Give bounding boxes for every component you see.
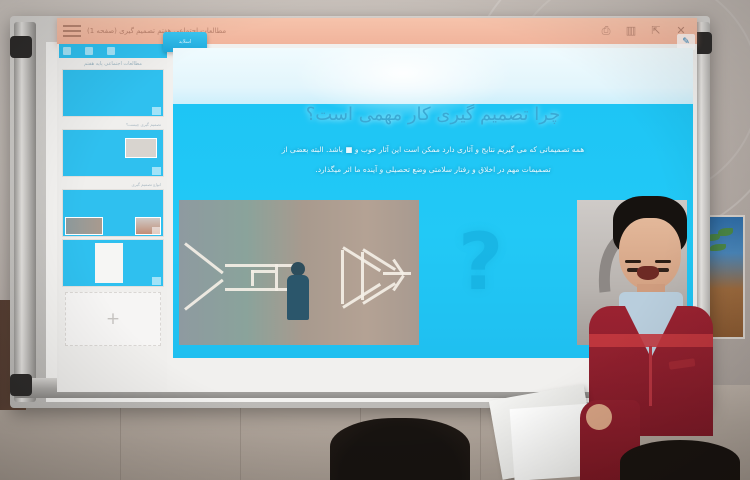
slide-thumbnail-1[interactable] [63, 70, 163, 116]
slide-bullet-1: همه تصمیماتی که می گیریم نتایج و آثاری د… [187, 144, 679, 155]
add-slide-button[interactable]: + [65, 292, 161, 346]
text-tool-icon[interactable] [107, 47, 115, 55]
hamburger-menu-icon[interactable] [63, 24, 81, 38]
slide-panel[interactable]: مطالعات اجتماعی پایه هفتم تصمیم گیری چیس… [59, 44, 168, 392]
slide-number-badge [152, 227, 161, 235]
slide-number-badge [152, 107, 161, 115]
person-silhouette [287, 262, 309, 320]
two-arrows-choice-photo [179, 200, 419, 345]
slide-number-badge [152, 277, 161, 285]
cardigan-placket [649, 346, 652, 406]
thumbnail-image [65, 217, 103, 235]
whiteboard-corner-cap [10, 374, 32, 396]
whiteboard-corner-cap [10, 36, 32, 58]
whiteboard-left-rail [14, 22, 36, 402]
sidebar-toolbar [59, 44, 167, 58]
slide-number-badge [152, 167, 161, 175]
student-hand [586, 404, 612, 430]
slide-thumbnail-3[interactable] [63, 190, 163, 236]
thumbnail-image [125, 138, 157, 158]
seated-student-right [620, 440, 740, 480]
shapes-tool-icon[interactable] [85, 47, 93, 55]
slide-thumbnail-title-2: تصمیم گیری چیست؟ [59, 120, 167, 130]
slide-body-text: همه تصمیماتی که می گیریم نتایج و آثاری د… [187, 144, 679, 184]
thumbnail-image [95, 243, 123, 283]
slide-thumbnail-2[interactable] [63, 130, 163, 176]
slide-thumbnail-4[interactable] [63, 240, 163, 286]
print-icon[interactable]: ⎙ [600, 25, 612, 37]
seated-student-front [330, 418, 470, 480]
question-mark-graphic: ? [458, 218, 503, 308]
slide-thumbnail-title-3: انواع تصمیم گیری [59, 180, 167, 190]
student-mouth [637, 266, 659, 280]
pointer-tool-icon[interactable] [63, 47, 71, 55]
book-icon[interactable]: ▥ [625, 25, 637, 37]
share-icon[interactable]: ⇱ [650, 25, 662, 37]
slide-tab-label: اسلاید [179, 39, 192, 45]
slide-bullet-2: تصمیمات مهم در اخلاق و رفتار سلامتی وضع … [187, 164, 679, 175]
app-titlebar: مطالعات اجتماعی هفتم تصمیم گیری (صفحه 1)… [57, 18, 697, 44]
sidebar-caption: مطالعات اجتماعی پایه هفتم [59, 58, 167, 70]
classroom-scene: مطالعات اجتماعی هفتم تصمیم گیری (صفحه 1)… [0, 0, 750, 480]
slide-title: چرا تصمیم گیری کار مهمی است؟ [173, 104, 693, 125]
